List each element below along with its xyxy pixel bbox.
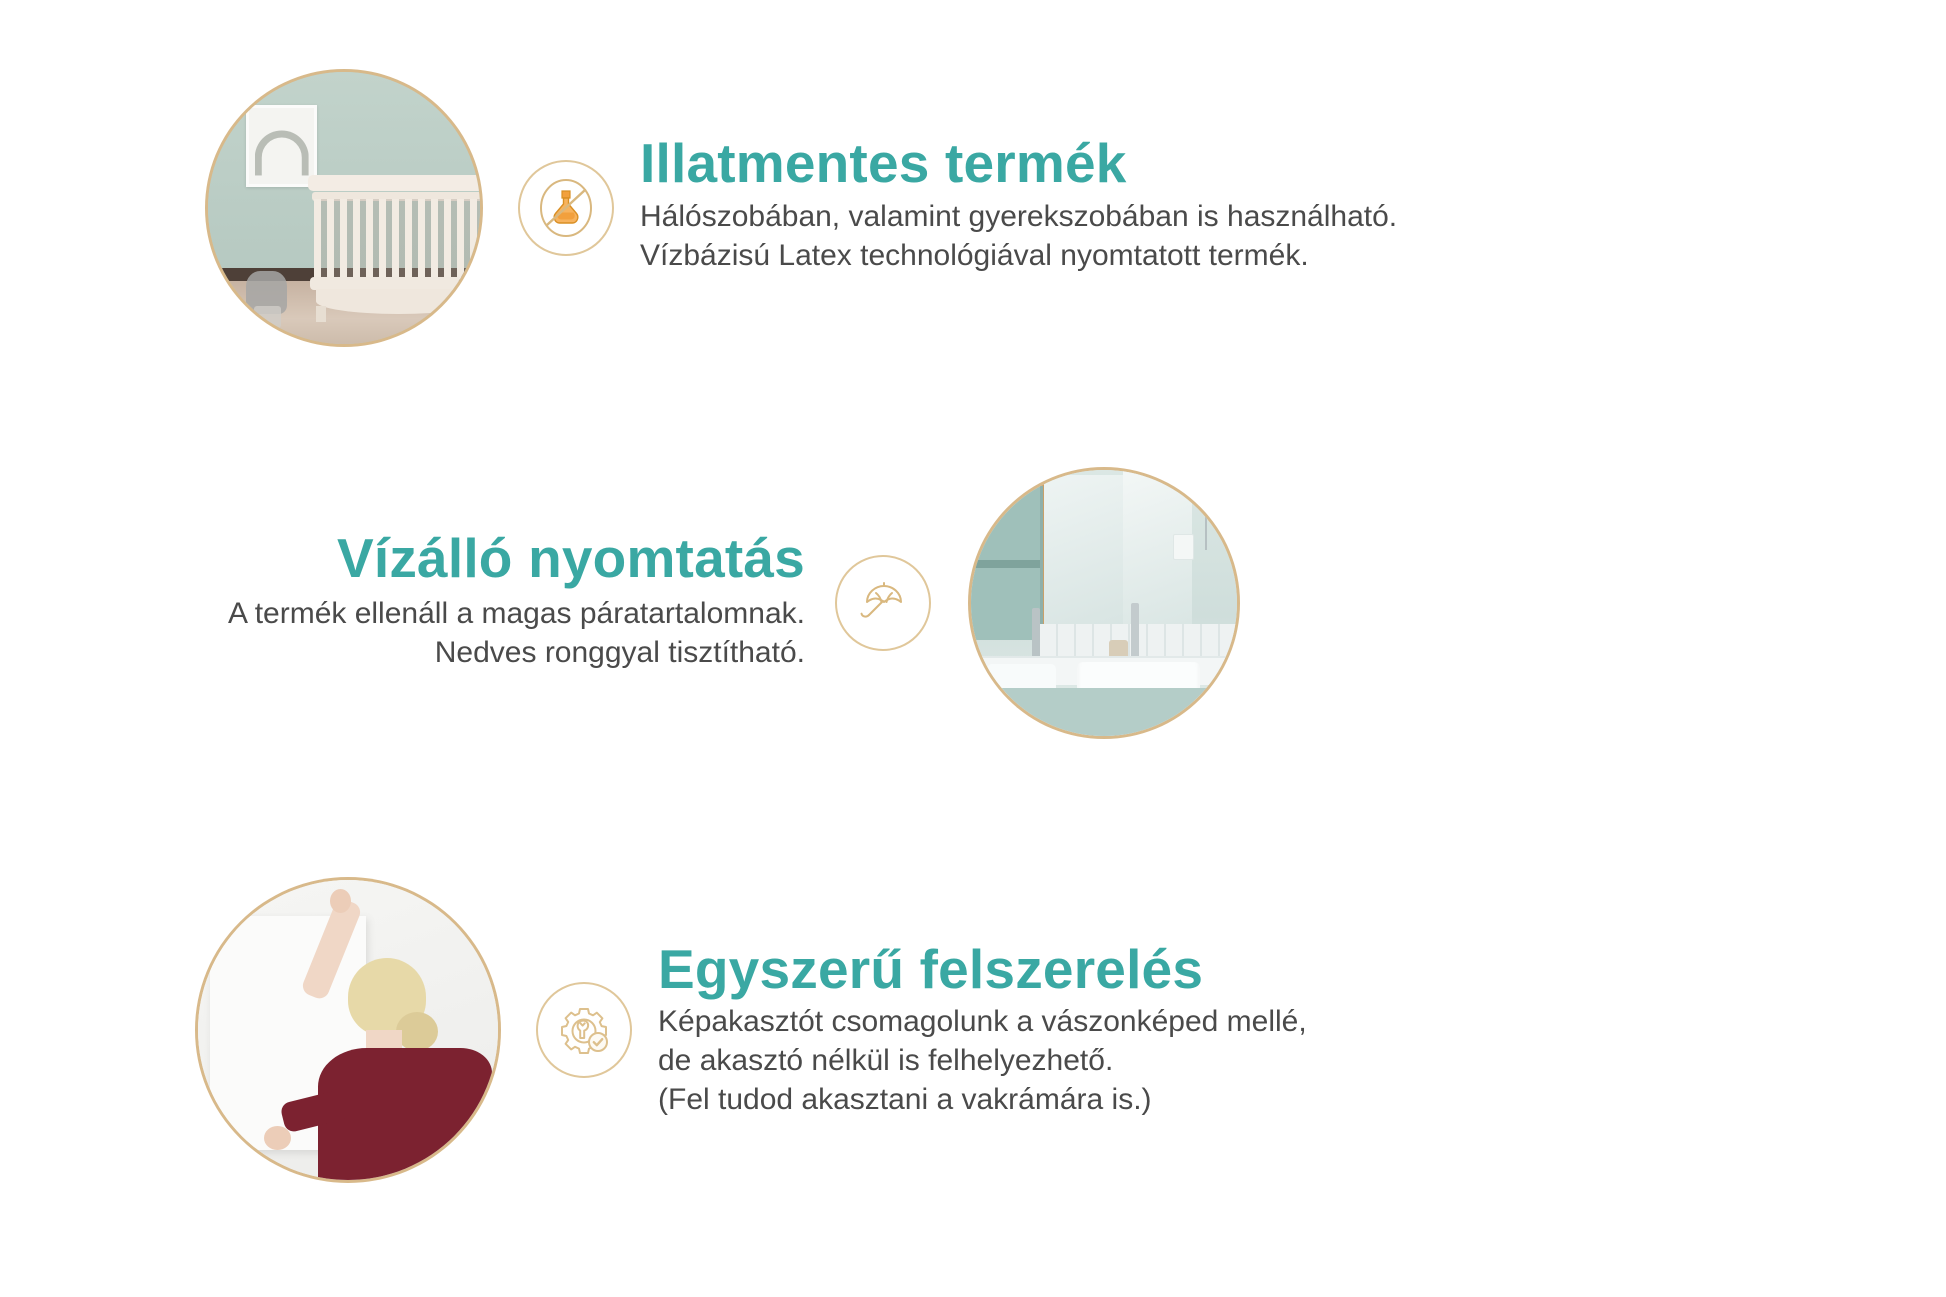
crib-leg-left <box>316 306 326 323</box>
felszereles-text-block: Egyszerű felszerelés Képakasztót csomago… <box>658 941 1307 1120</box>
bathroom-faucet-right <box>1131 603 1139 662</box>
illatmentes-body-line-2: Vízbázisú Latex technológiával nyomtatot… <box>640 236 1397 275</box>
vizallo-text-block: Vízálló nyomtatás A termék ellenáll a ma… <box>228 530 805 676</box>
hair-bun <box>396 1012 438 1051</box>
feature-felszereles: Egyszerű felszerelés Képakasztót csomago… <box>198 880 1307 1180</box>
crib-bars <box>314 199 480 278</box>
crib-leg-right <box>471 306 480 323</box>
nursery-toy-base <box>254 306 281 328</box>
vizallo-body-line-1: A termék ellenáll a magas páratartalomna… <box>228 594 805 633</box>
feature-vizallo: Vízálló nyomtatás A termék ellenáll a ma… <box>228 470 1237 736</box>
rainbow-icon <box>254 131 308 176</box>
felszereles-body-line-2: de akasztó nélkül is felhelyezhető. <box>658 1041 1307 1080</box>
bathroom-faucet-left <box>1032 608 1040 661</box>
nursery-room-photo <box>208 72 480 344</box>
bathroom-photo <box>971 470 1237 736</box>
vizallo-headline: Vízálló nyomtatás <box>337 530 805 588</box>
illatmentes-text-block: Illatmentes termék Hálószobában, valamin… <box>640 135 1397 281</box>
bathroom-light-switch <box>1173 534 1194 560</box>
feature-illatmentes: Illatmentes termék Hálószobában, valamin… <box>208 72 1397 344</box>
hanging-canvas-photo <box>198 880 498 1180</box>
crib-skirt <box>316 289 480 314</box>
umbrella-icon <box>835 555 931 651</box>
crib <box>300 175 480 316</box>
raised-hand <box>330 889 351 913</box>
bathroom-mirror <box>1040 475 1124 640</box>
bathroom-cabinet-line <box>971 560 1040 568</box>
felszereles-body-line-1: Képakasztót csomagolunk a vászonképed me… <box>658 1002 1307 1041</box>
no-fragrance-bottle-icon <box>518 160 614 256</box>
bathroom-vanity <box>971 688 1237 736</box>
illatmentes-body-line-1: Hálószobában, valamint gyerekszobában is… <box>640 197 1397 236</box>
illatmentes-headline: Illatmentes termék <box>640 135 1397 193</box>
crib-top-rail <box>308 175 480 191</box>
lower-hand <box>264 1126 291 1150</box>
vizallo-body-line-2: Nedves ronggyal tisztítható. <box>435 633 805 672</box>
felszereles-headline: Egyszerű felszerelés <box>658 941 1307 999</box>
gear-wrench-check-icon <box>536 982 632 1078</box>
bathroom-towel-bar <box>1205 491 1207 550</box>
felszereles-body-line-3: (Fel tudod akasztani a vakrámára is.) <box>658 1080 1307 1119</box>
